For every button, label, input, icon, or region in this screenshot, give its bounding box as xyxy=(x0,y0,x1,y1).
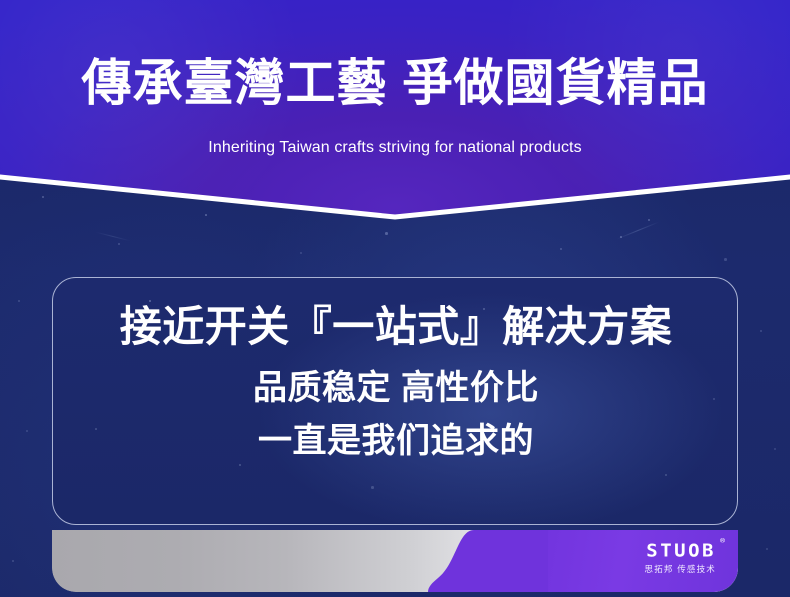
logo-wordmark-text: STUOB xyxy=(646,541,716,561)
promo-banner: 傳承臺灣工藝 爭做國貨精品 Inheriting Taiwan crafts s… xyxy=(0,0,790,597)
brand-logo: STUOB ® 思拓邦 传感技术 xyxy=(645,541,716,575)
card-headline: 接近开关『一站式』解决方案 xyxy=(53,300,738,354)
footer-bar: STUOB ® 思拓邦 传感技术 xyxy=(52,530,738,592)
logo-wordmark: STUOB ® xyxy=(646,542,716,561)
card-line-two: 品质稳定 高性价比 xyxy=(53,365,738,411)
registered-trademark-icon: ® xyxy=(720,537,725,544)
banner-subtitle-en: Inheriting Taiwan crafts striving for na… xyxy=(0,137,790,159)
message-card: 接近开关『一站式』解决方案 品质稳定 高性价比 一直是我们追求的 xyxy=(52,277,738,525)
logo-tagline: 思拓邦 传感技术 xyxy=(645,563,716,575)
card-line-three: 一直是我们追求的 xyxy=(53,418,738,464)
banner-title-zh: 傳承臺灣工藝 爭做國貨精品 xyxy=(0,52,790,114)
